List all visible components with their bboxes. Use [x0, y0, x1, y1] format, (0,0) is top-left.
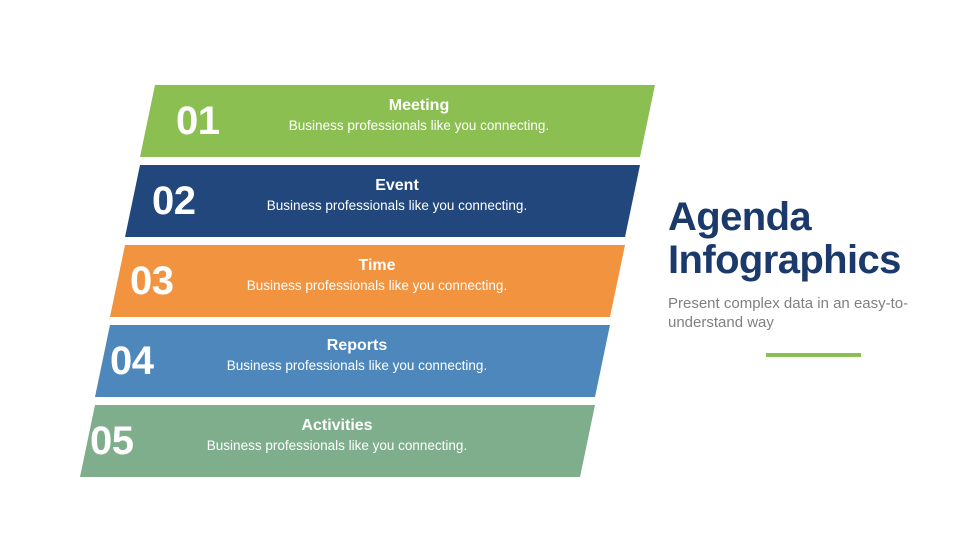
agenda-step-row[interactable]: 02 Event Business professionals like you… — [0, 165, 700, 237]
step-description: Business professionals like you connecti… — [182, 438, 492, 454]
step-text-block: Activities Business professionals like y… — [182, 417, 492, 454]
step-description: Business professionals like you connecti… — [264, 118, 574, 134]
step-text-block: Reports Business professionals like you … — [202, 337, 512, 374]
heading-block: Agenda Infographics Present complex data… — [668, 196, 958, 365]
step-number: 02 — [152, 181, 196, 221]
step-content: 01 Meeting Business professionals like y… — [0, 85, 700, 157]
slide-canvas: 01 Meeting Business professionals like y… — [0, 0, 980, 551]
step-text-block: Event Business professionals like you co… — [242, 177, 552, 214]
step-text-block: Meeting Business professionals like you … — [264, 97, 574, 134]
step-title: Event — [242, 177, 552, 195]
agenda-step-row[interactable]: 03 Time Business professionals like you … — [0, 245, 700, 317]
step-text-block: Time Business professionals like you con… — [222, 257, 532, 294]
step-description: Business professionals like you connecti… — [222, 278, 532, 294]
step-number: 04 — [110, 341, 154, 381]
agenda-step-list: 01 Meeting Business professionals like y… — [0, 0, 700, 551]
step-description: Business professionals like you connecti… — [242, 198, 552, 214]
step-number: 01 — [176, 101, 220, 141]
step-content: 05 Activities Business professionals lik… — [0, 405, 700, 477]
agenda-step-row[interactable]: 01 Meeting Business professionals like y… — [0, 85, 700, 157]
step-content: 03 Time Business professionals like you … — [0, 245, 700, 317]
agenda-step-row[interactable]: 05 Activities Business professionals lik… — [0, 405, 700, 477]
step-description: Business professionals like you connecti… — [202, 358, 512, 374]
step-title: Reports — [202, 337, 512, 355]
page-subtitle: Present complex data in an easy-to-under… — [668, 294, 958, 332]
accent-divider — [766, 353, 861, 357]
step-number: 03 — [130, 261, 174, 301]
step-number: 05 — [90, 421, 134, 461]
page-title-line-2: Infographics — [668, 239, 958, 282]
page-title-line-1: Agenda — [668, 196, 958, 239]
step-content: 04 Reports Business professionals like y… — [0, 325, 700, 397]
agenda-step-row[interactable]: 04 Reports Business professionals like y… — [0, 325, 700, 397]
step-title: Activities — [182, 417, 492, 435]
step-title: Meeting — [264, 97, 574, 115]
step-content: 02 Event Business professionals like you… — [0, 165, 700, 237]
step-title: Time — [222, 257, 532, 275]
